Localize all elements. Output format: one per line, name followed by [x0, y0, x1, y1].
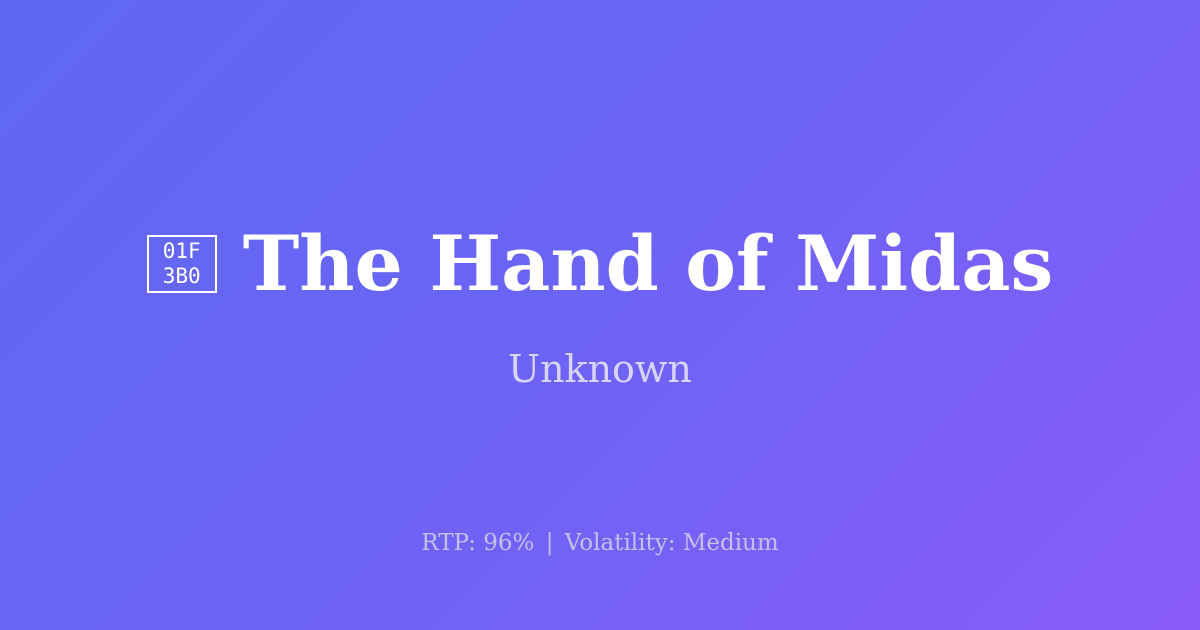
meta-separator: | — [542, 530, 558, 556]
slot-machine-emoji-tofu-icon: 01F 3B0 — [147, 235, 217, 293]
game-preview-card: 01F 3B0 The Hand of Midas Unknown RTP: 9… — [0, 0, 1200, 630]
volatility-label: Volatility: — [565, 530, 676, 556]
tofu-codepoint-row-top: 01F — [163, 239, 201, 264]
title-row: 01F 3B0 The Hand of Midas — [147, 222, 1054, 306]
hero-block: 01F 3B0 The Hand of Midas Unknown — [0, 222, 1200, 392]
game-title: The Hand of Midas — [243, 222, 1054, 306]
game-meta-line: RTP: 96% | Volatility: Medium — [0, 529, 1200, 557]
rtp-value: 96% — [483, 530, 534, 556]
game-provider-subtitle: Unknown — [508, 346, 692, 392]
tofu-codepoint-row-bottom: 3B0 — [163, 264, 201, 289]
rtp-label: RTP: — [421, 530, 476, 556]
volatility-value: Medium — [683, 530, 779, 556]
